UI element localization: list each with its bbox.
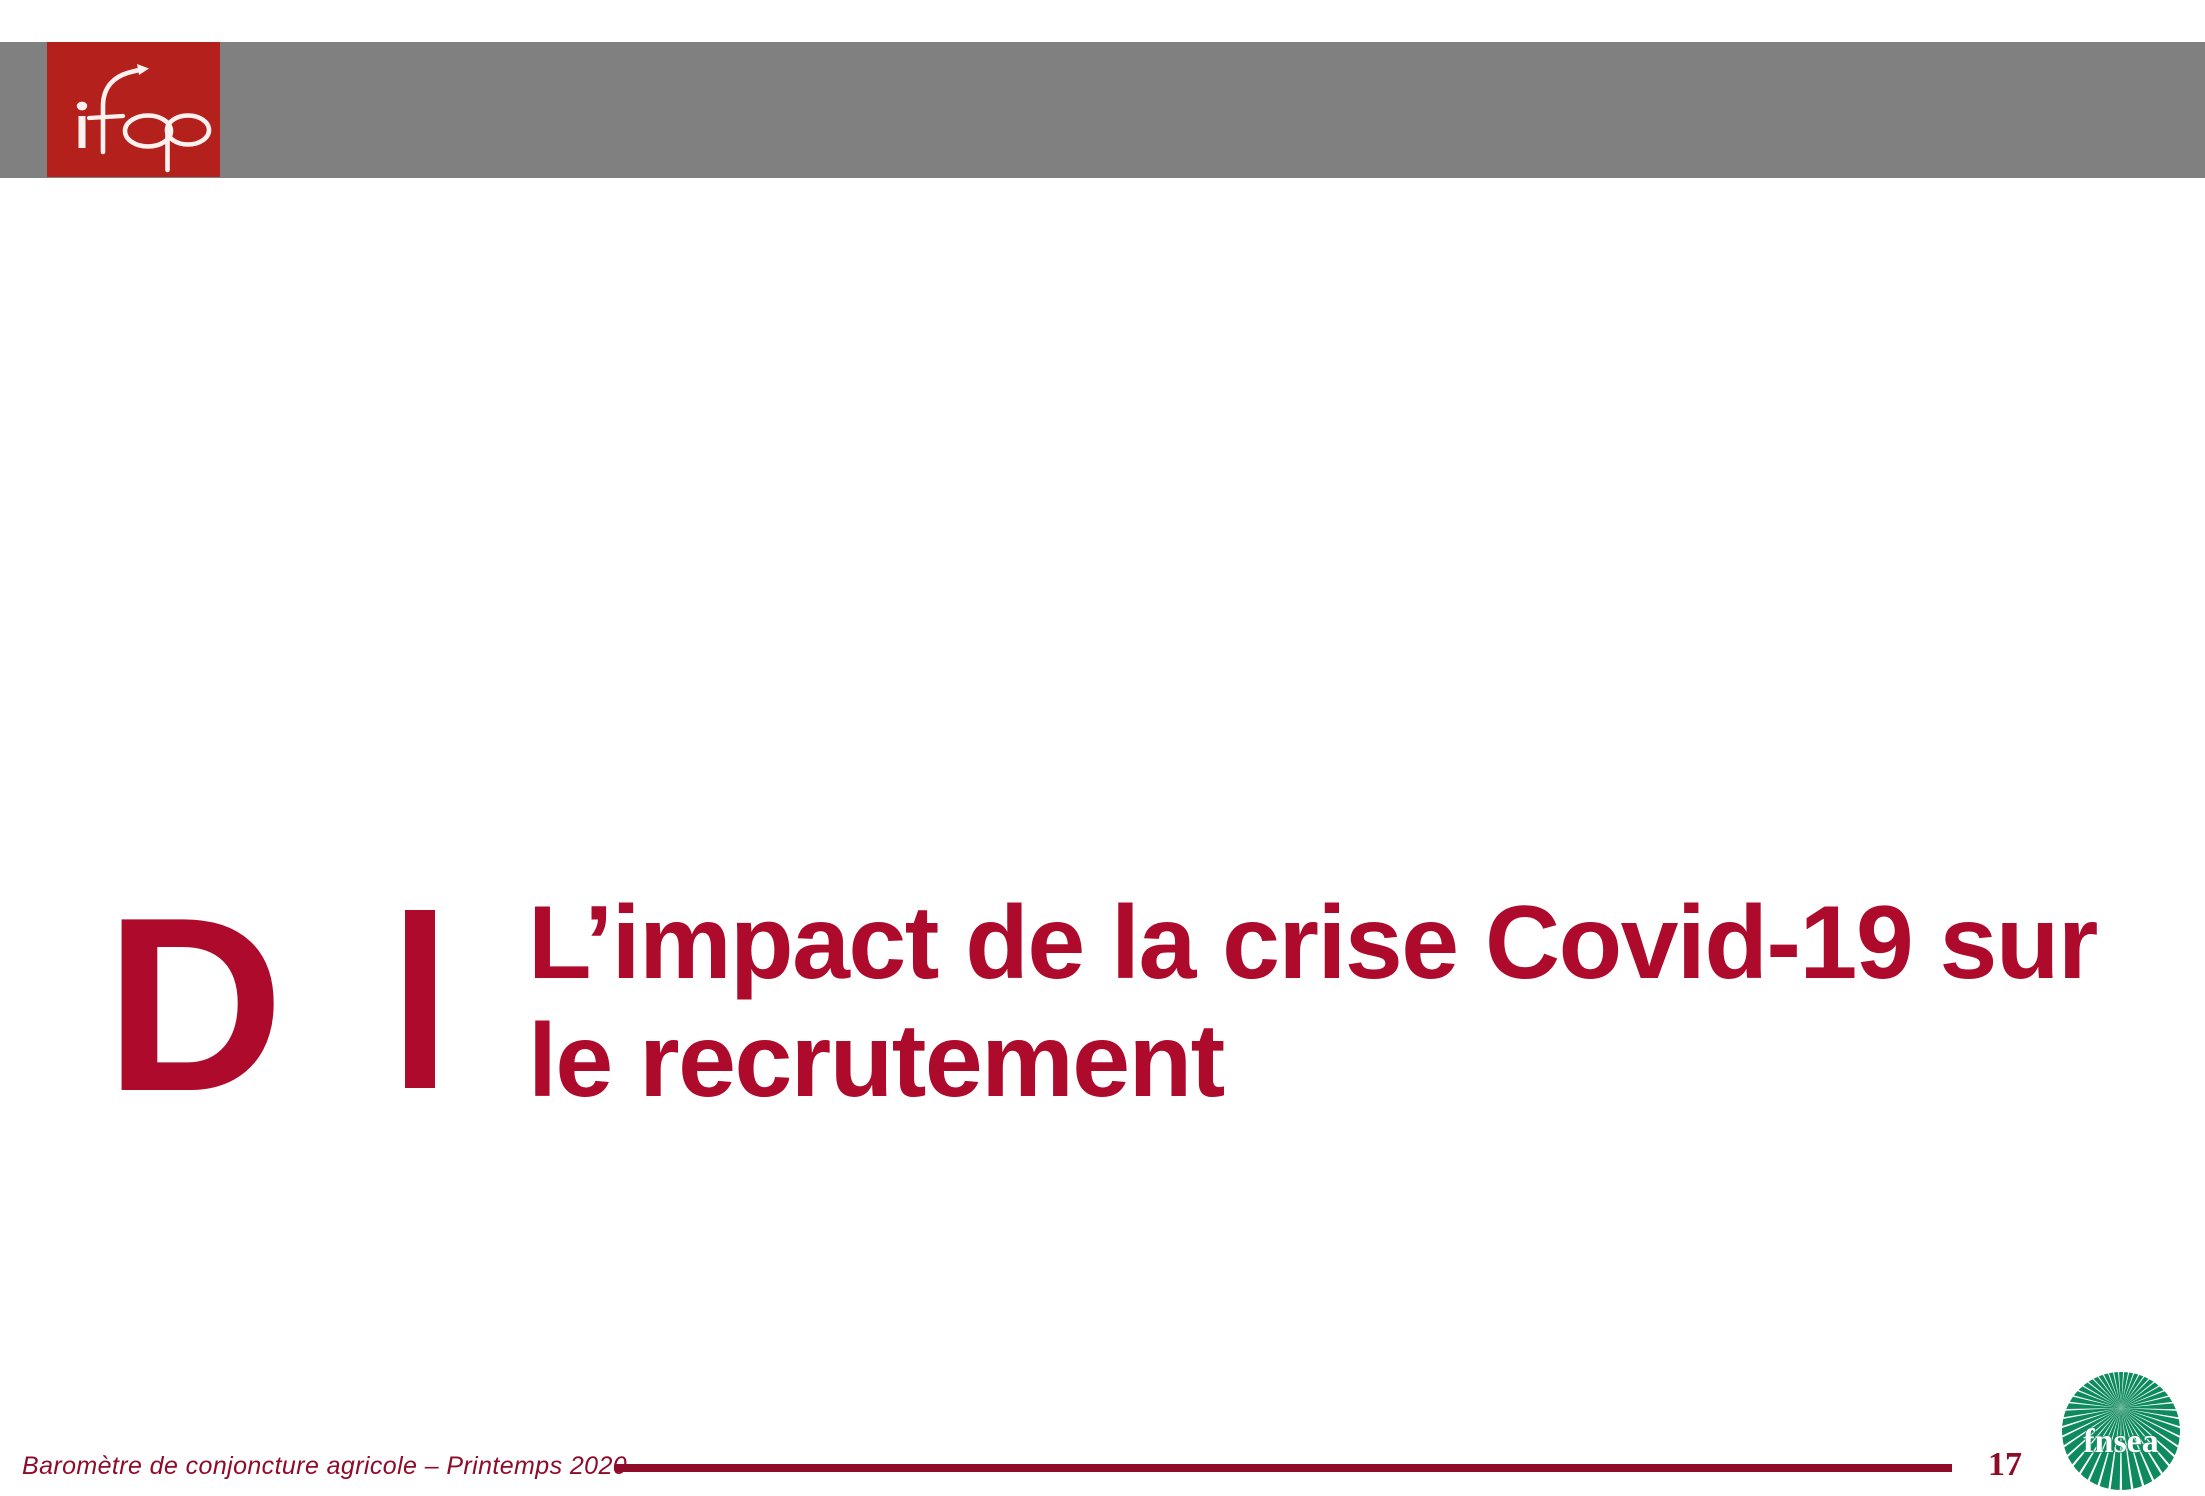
ifop-logo [47,42,220,177]
fnsea-logo: fnsea [2058,1368,2184,1494]
slide-canvas: D L’impact de la crise Covid-19 sur le r… [0,0,2205,1496]
fnsea-sunburst-icon: fnsea [2058,1368,2184,1494]
section-title-line-2: le recrutement [528,1002,2088,1120]
section-divider [405,910,435,1088]
footer-caption: Baromètre de conjoncture agricole – Prin… [22,1451,627,1481]
header-band [0,42,2205,178]
ifop-wordmark-icon [47,42,220,177]
section-title-line-1: L’impact de la crise Covid-19 sur [528,884,2088,1002]
section-title: L’impact de la crise Covid-19 sur le rec… [528,884,2088,1120]
section-letter: D [105,880,305,1128]
svg-text:fnsea: fnsea [2083,1423,2159,1460]
footer-divider-rule [615,1464,1952,1472]
page-number: 17 [1975,1447,2035,1483]
